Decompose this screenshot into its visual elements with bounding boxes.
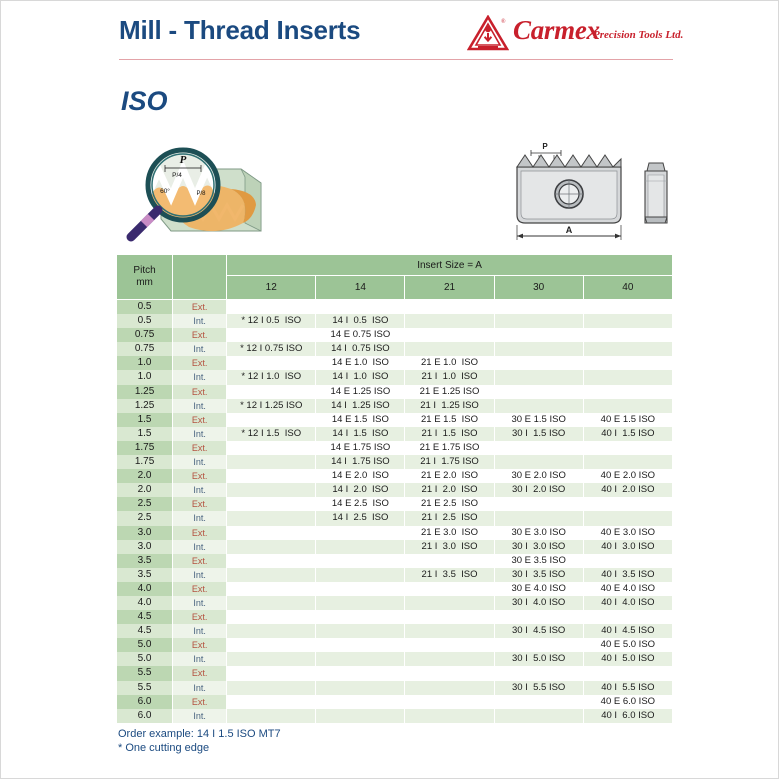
header-size-40: 40	[583, 276, 672, 300]
table-row: 4.5Int.30 I 4.5 ISO40 I 4.5 ISO	[117, 624, 673, 638]
cell-insert-40	[583, 300, 672, 315]
brand-name: Carmex	[513, 15, 600, 46]
cell-insert-21: 21 E 1.25 ISO	[405, 385, 494, 399]
cell-insert-14	[316, 709, 405, 723]
table-row: 5.0Ext.40 E 5.0 ISO	[117, 638, 673, 652]
cell-type: Ext.	[173, 385, 227, 399]
cell-insert-21: 21 I 3.0 ISO	[405, 540, 494, 554]
cell-insert-30: 30 I 2.0 ISO	[494, 483, 583, 497]
cell-insert-40: 40 E 1.5 ISO	[583, 413, 672, 427]
cell-insert-21: 21 E 2.0 ISO	[405, 469, 494, 483]
cell-pitch: 5.5	[117, 681, 173, 695]
cell-insert-30	[494, 300, 583, 315]
cell-insert-12	[227, 610, 316, 624]
cell-insert-40: 40 I 2.0 ISO	[583, 483, 672, 497]
table-row: 0.5Int.* 12 I 0.5 ISO14 I 0.5 ISO	[117, 314, 673, 328]
cell-insert-30	[494, 709, 583, 723]
cell-type: Ext.	[173, 413, 227, 427]
cell-insert-12	[227, 385, 316, 399]
cell-insert-14: 14 E 1.75 ISO	[316, 441, 405, 455]
table-row: 1.0Ext.14 E 1.0 ISO21 E 1.0 ISO	[117, 356, 673, 370]
cell-insert-12: * 12 I 1.25 ISO	[227, 399, 316, 413]
cell-insert-12: * 12 I 1.5 ISO	[227, 427, 316, 441]
table-row: 5.5Int.30 I 5.5 ISO40 I 5.5 ISO	[117, 681, 673, 695]
cell-insert-40: 40 I 1.5 ISO	[583, 427, 672, 441]
cell-insert-14: 14 I 1.75 ISO	[316, 455, 405, 469]
cell-pitch: 6.0	[117, 695, 173, 709]
cell-insert-40	[583, 314, 672, 328]
table-row: 2.0Int.14 I 2.0 ISO21 I 2.0 ISO30 I 2.0 …	[117, 483, 673, 497]
cell-type: Ext.	[173, 610, 227, 624]
cell-pitch: 3.5	[117, 568, 173, 582]
cell-type: Ext.	[173, 666, 227, 680]
cell-insert-21	[405, 596, 494, 610]
cell-insert-12	[227, 455, 316, 469]
cell-insert-21: 21 E 3.0 ISO	[405, 526, 494, 540]
cell-pitch: 0.75	[117, 342, 173, 356]
cell-pitch: 2.0	[117, 483, 173, 497]
thread-angle-label: 60°	[160, 187, 170, 195]
cell-insert-40: 40 E 3.0 ISO	[583, 526, 672, 540]
cell-insert-30	[494, 342, 583, 356]
cell-type: Int.	[173, 568, 227, 582]
cell-pitch: 3.0	[117, 540, 173, 554]
cell-type: Int.	[173, 342, 227, 356]
cell-insert-21: 21 I 1.5 ISO	[405, 427, 494, 441]
cell-insert-30: 30 I 3.5 ISO	[494, 568, 583, 582]
cell-type: Ext.	[173, 356, 227, 370]
cell-pitch: 5.5	[117, 666, 173, 680]
company-logo: ® Carmex Precision Tools Ltd.	[467, 13, 673, 53]
cell-insert-30	[494, 356, 583, 370]
footer-notes: Order example: 14 I 1.5 ISO MT7 * One cu…	[118, 727, 281, 755]
cell-insert-12	[227, 554, 316, 568]
cell-insert-21	[405, 328, 494, 342]
header-type	[173, 255, 227, 300]
cell-insert-14	[316, 666, 405, 680]
cell-insert-40: 40 I 5.5 ISO	[583, 681, 672, 695]
cell-insert-12	[227, 300, 316, 315]
table-row: 2.5Ext.14 E 2.5 ISO21 E 2.5 ISO	[117, 497, 673, 511]
cell-pitch: 5.0	[117, 652, 173, 666]
cell-insert-40	[583, 328, 672, 342]
cell-insert-12	[227, 356, 316, 370]
header-pitch: Pitch mm	[117, 255, 173, 300]
cell-insert-40: 40 E 2.0 ISO	[583, 469, 672, 483]
cell-insert-12	[227, 511, 316, 525]
cell-pitch: 6.0	[117, 709, 173, 723]
table-row: 6.0Int.40 I 6.0 ISO	[117, 709, 673, 723]
cell-insert-12	[227, 568, 316, 582]
cell-insert-21	[405, 652, 494, 666]
header-pitch-line1: Pitch	[133, 265, 155, 276]
table-row: 6.0Ext.40 E 6.0 ISO	[117, 695, 673, 709]
cell-insert-21: 21 E 1.75 ISO	[405, 441, 494, 455]
cell-pitch: 4.5	[117, 610, 173, 624]
cell-type: Int.	[173, 596, 227, 610]
cell-insert-21: 21 E 1.5 ISO	[405, 413, 494, 427]
header-pitch-line2: mm	[136, 277, 153, 288]
insert-dimension-diagram: P A	[499, 137, 679, 249]
cell-insert-30	[494, 695, 583, 709]
cell-insert-21: 21 E 2.5 ISO	[405, 497, 494, 511]
cell-insert-40	[583, 610, 672, 624]
cell-insert-30: 30 E 1.5 ISO	[494, 413, 583, 427]
cell-insert-12	[227, 540, 316, 554]
cell-insert-30: 30 E 3.0 ISO	[494, 526, 583, 540]
cell-pitch: 1.0	[117, 370, 173, 384]
cell-insert-40	[583, 455, 672, 469]
order-example-note: Order example: 14 I 1.5 ISO MT7	[118, 727, 281, 741]
cell-insert-30: 30 I 1.5 ISO	[494, 427, 583, 441]
cell-pitch: 4.0	[117, 596, 173, 610]
cell-insert-14: 14 E 1.5 ISO	[316, 413, 405, 427]
cell-pitch: 3.0	[117, 526, 173, 540]
cell-insert-21	[405, 342, 494, 356]
table-row: 3.5Ext.30 E 3.5 ISO	[117, 554, 673, 568]
header-size-14: 14	[316, 276, 405, 300]
cell-insert-12	[227, 638, 316, 652]
title-divider	[119, 59, 673, 60]
cell-insert-40	[583, 511, 672, 525]
cell-insert-40	[583, 441, 672, 455]
cell-pitch: 1.75	[117, 441, 173, 455]
table-row: 1.5Ext.14 E 1.5 ISO21 E 1.5 ISO30 E 1.5 …	[117, 413, 673, 427]
cell-insert-30	[494, 328, 583, 342]
table-row: 3.0Ext.21 E 3.0 ISO30 E 3.0 ISO40 E 3.0 …	[117, 526, 673, 540]
cell-insert-14	[316, 624, 405, 638]
thread-pitch-label: P	[180, 154, 187, 166]
cell-insert-21: 21 I 2.5 ISO	[405, 511, 494, 525]
brand-tagline: Precision Tools Ltd.	[593, 29, 683, 41]
cell-insert-30: 30 I 3.0 ISO	[494, 540, 583, 554]
cell-insert-14: 14 I 0.75 ISO	[316, 342, 405, 356]
cell-type: Int.	[173, 511, 227, 525]
table-row: 0.5Ext.	[117, 300, 673, 315]
cell-insert-40: 40 I 3.5 ISO	[583, 568, 672, 582]
cell-type: Int.	[173, 399, 227, 413]
cell-insert-21: 21 I 1.0 ISO	[405, 370, 494, 384]
cell-insert-12	[227, 497, 316, 511]
header-size-12: 12	[227, 276, 316, 300]
cell-insert-30	[494, 399, 583, 413]
cell-insert-21	[405, 314, 494, 328]
cell-type: Int.	[173, 483, 227, 497]
cell-insert-30	[494, 385, 583, 399]
cell-type: Int.	[173, 624, 227, 638]
cell-insert-14: 14 I 2.5 ISO	[316, 511, 405, 525]
cell-insert-14	[316, 596, 405, 610]
cell-insert-30: 30 E 4.0 ISO	[494, 582, 583, 596]
cell-insert-21: 21 I 1.75 ISO	[405, 455, 494, 469]
cell-insert-30: 30 E 3.5 ISO	[494, 554, 583, 568]
table-row: 3.5Int.21 I 3.5 ISO30 I 3.5 ISO40 I 3.5 …	[117, 568, 673, 582]
cell-insert-21	[405, 681, 494, 695]
cell-insert-14	[316, 568, 405, 582]
table-row: 5.5Ext.	[117, 666, 673, 680]
cell-type: Int.	[173, 540, 227, 554]
cell-insert-14: 14 E 2.0 ISO	[316, 469, 405, 483]
cell-insert-14	[316, 610, 405, 624]
cell-insert-14: 14 E 2.5 ISO	[316, 497, 405, 511]
thread-crest-label: P/4	[172, 172, 182, 179]
cutting-edge-footnote: * One cutting edge	[118, 741, 281, 755]
cell-type: Ext.	[173, 300, 227, 315]
table-row: 1.5Int.* 12 I 1.5 ISO14 I 1.5 ISO21 I 1.…	[117, 427, 673, 441]
cell-insert-14	[316, 526, 405, 540]
cell-pitch: 2.5	[117, 511, 173, 525]
cell-insert-21: 21 I 1.25 ISO	[405, 399, 494, 413]
insert-spec-table: Pitch mm Insert Size = A 12 14 21 30 40 …	[116, 254, 673, 723]
cell-insert-12	[227, 709, 316, 723]
cell-insert-40	[583, 356, 672, 370]
cell-insert-40: 40 I 3.0 ISO	[583, 540, 672, 554]
cell-insert-14	[316, 638, 405, 652]
cell-type: Int.	[173, 427, 227, 441]
thread-root-label: P/8	[196, 191, 206, 197]
cell-insert-14	[316, 554, 405, 568]
cell-insert-30	[494, 666, 583, 680]
cell-insert-12	[227, 624, 316, 638]
cell-insert-14: 14 E 0.75 ISO	[316, 328, 405, 342]
cell-insert-40: 40 E 5.0 ISO	[583, 638, 672, 652]
cell-insert-30	[494, 511, 583, 525]
cell-insert-40	[583, 399, 672, 413]
cell-pitch: 1.5	[117, 413, 173, 427]
cell-insert-12	[227, 526, 316, 540]
cell-insert-30: 30 E 2.0 ISO	[494, 469, 583, 483]
table-row: 1.75Ext.14 E 1.75 ISO21 E 1.75 ISO	[117, 441, 673, 455]
cell-type: Ext.	[173, 469, 227, 483]
cell-pitch: 1.25	[117, 385, 173, 399]
cell-insert-30: 30 I 4.5 ISO	[494, 624, 583, 638]
cell-insert-12	[227, 483, 316, 497]
cell-insert-30: 30 I 4.0 ISO	[494, 596, 583, 610]
cell-insert-40	[583, 666, 672, 680]
cell-type: Int.	[173, 709, 227, 723]
cell-insert-12	[227, 469, 316, 483]
cell-insert-30: 30 I 5.5 ISO	[494, 681, 583, 695]
cell-type: Ext.	[173, 582, 227, 596]
cell-pitch: 2.0	[117, 469, 173, 483]
cell-insert-12	[227, 596, 316, 610]
cell-type: Ext.	[173, 554, 227, 568]
cell-insert-21	[405, 709, 494, 723]
cell-insert-40: 40 E 4.0 ISO	[583, 582, 672, 596]
cell-insert-14: 14 E 1.0 ISO	[316, 356, 405, 370]
document-page: Mill - Thread Inserts ® Carmex Precision…	[0, 0, 779, 779]
cell-insert-21	[405, 610, 494, 624]
cell-insert-14	[316, 540, 405, 554]
cell-insert-12	[227, 695, 316, 709]
table-row: 3.0Int.21 I 3.0 ISO30 I 3.0 ISO40 I 3.0 …	[117, 540, 673, 554]
cell-pitch: 2.5	[117, 497, 173, 511]
table-row: 4.0Ext.30 E 4.0 ISO40 E 4.0 ISO	[117, 582, 673, 596]
cell-insert-21	[405, 695, 494, 709]
cell-insert-30	[494, 638, 583, 652]
table-row: 4.5Ext.	[117, 610, 673, 624]
cell-insert-12: * 12 I 0.75 ISO	[227, 342, 316, 356]
table-row: 1.25Int.* 12 I 1.25 ISO14 I 1.25 ISO21 I…	[117, 399, 673, 413]
cell-insert-14: 14 E 1.25 ISO	[316, 385, 405, 399]
cell-insert-14: 14 I 1.5 ISO	[316, 427, 405, 441]
table-row: 1.25Ext.14 E 1.25 ISO21 E 1.25 ISO	[117, 385, 673, 399]
cell-type: Ext.	[173, 526, 227, 540]
cell-insert-14	[316, 681, 405, 695]
table-body: 0.5Ext.0.5Int.* 12 I 0.5 ISO14 I 0.5 ISO…	[117, 300, 673, 723]
cell-insert-40: 40 I 5.0 ISO	[583, 652, 672, 666]
cell-insert-30	[494, 314, 583, 328]
cell-insert-40: 40 I 4.5 ISO	[583, 624, 672, 638]
cell-insert-14	[316, 300, 405, 315]
page-title: Mill - Thread Inserts	[119, 15, 360, 46]
table-header: Pitch mm Insert Size = A 12 14 21 30 40	[117, 255, 673, 300]
cell-insert-14	[316, 582, 405, 596]
cell-insert-40: 40 E 6.0 ISO	[583, 695, 672, 709]
cell-insert-12: * 12 I 0.5 ISO	[227, 314, 316, 328]
cell-insert-21	[405, 300, 494, 315]
cell-insert-21	[405, 554, 494, 568]
cell-type: Int.	[173, 314, 227, 328]
cell-insert-21	[405, 666, 494, 680]
cell-pitch: 1.0	[117, 356, 173, 370]
cell-pitch: 1.75	[117, 455, 173, 469]
insert-width-label: A	[566, 225, 573, 235]
cell-pitch: 0.5	[117, 314, 173, 328]
cell-insert-40	[583, 385, 672, 399]
cell-insert-12	[227, 681, 316, 695]
cell-insert-14	[316, 652, 405, 666]
table-row: 0.75Ext.14 E 0.75 ISO	[117, 328, 673, 342]
cell-insert-14: 14 I 1.25 ISO	[316, 399, 405, 413]
cell-insert-30	[494, 455, 583, 469]
cell-type: Int.	[173, 681, 227, 695]
cell-insert-12	[227, 441, 316, 455]
cell-insert-12	[227, 652, 316, 666]
cell-insert-40	[583, 497, 672, 511]
table-row: 5.0Int.30 I 5.0 ISO40 I 5.0 ISO	[117, 652, 673, 666]
cell-type: Ext.	[173, 441, 227, 455]
cell-insert-21: 21 I 2.0 ISO	[405, 483, 494, 497]
cell-insert-12	[227, 666, 316, 680]
cell-pitch: 0.5	[117, 300, 173, 315]
cell-insert-40	[583, 370, 672, 384]
table-row: 2.5Int.14 I 2.5 ISO21 I 2.5 ISO	[117, 511, 673, 525]
cell-pitch: 1.5	[117, 427, 173, 441]
cell-pitch: 1.25	[117, 399, 173, 413]
cell-pitch: 4.0	[117, 582, 173, 596]
table-row: 4.0Int.30 I 4.0 ISO40 I 4.0 ISO	[117, 596, 673, 610]
cell-type: Ext.	[173, 497, 227, 511]
cell-type: Ext.	[173, 695, 227, 709]
cell-insert-30: 30 I 5.0 ISO	[494, 652, 583, 666]
cell-insert-40: 40 I 4.0 ISO	[583, 596, 672, 610]
table-row: 1.0Int.* 12 I 1.0 ISO14 I 1.0 ISO21 I 1.…	[117, 370, 673, 384]
cell-insert-40: 40 I 6.0 ISO	[583, 709, 672, 723]
cell-insert-21	[405, 582, 494, 596]
table-row: 2.0Ext.14 E 2.0 ISO21 E 2.0 ISO30 E 2.0 …	[117, 469, 673, 483]
cell-insert-21	[405, 638, 494, 652]
cell-type: Ext.	[173, 328, 227, 342]
cell-insert-12	[227, 328, 316, 342]
table-row: 0.75Int.* 12 I 0.75 ISO14 I 0.75 ISO	[117, 342, 673, 356]
cell-insert-30	[494, 610, 583, 624]
svg-text:®: ®	[501, 18, 506, 25]
cell-insert-40	[583, 554, 672, 568]
cell-insert-14: 14 I 0.5 ISO	[316, 314, 405, 328]
section-heading-iso: ISO	[121, 86, 168, 117]
header-size-30: 30	[494, 276, 583, 300]
table-row: 1.75Int.14 I 1.75 ISO21 I 1.75 ISO	[117, 455, 673, 469]
cell-insert-14: 14 I 1.0 ISO	[316, 370, 405, 384]
cell-pitch: 4.5	[117, 624, 173, 638]
cell-type: Ext.	[173, 638, 227, 652]
cell-insert-12: * 12 I 1.0 ISO	[227, 370, 316, 384]
thread-profile-diagram: P P/4 P/8 60°	[113, 127, 283, 247]
cell-insert-12	[227, 413, 316, 427]
cell-insert-40	[583, 342, 672, 356]
insert-pitch-label: P	[542, 142, 548, 151]
cell-type: Int.	[173, 652, 227, 666]
cell-pitch: 3.5	[117, 554, 173, 568]
carmex-triangle-icon: ®	[467, 15, 509, 51]
header-insert-size: Insert Size = A	[227, 255, 673, 276]
cell-insert-21	[405, 624, 494, 638]
cell-type: Int.	[173, 370, 227, 384]
cell-insert-21: 21 E 1.0 ISO	[405, 356, 494, 370]
cell-insert-21: 21 I 3.5 ISO	[405, 568, 494, 582]
cell-insert-12	[227, 582, 316, 596]
cell-insert-14	[316, 695, 405, 709]
cell-pitch: 0.75	[117, 328, 173, 342]
header-size-21: 21	[405, 276, 494, 300]
cell-insert-30	[494, 441, 583, 455]
cell-insert-30	[494, 497, 583, 511]
cell-insert-30	[494, 370, 583, 384]
cell-type: Int.	[173, 455, 227, 469]
cell-pitch: 5.0	[117, 638, 173, 652]
cell-insert-14: 14 I 2.0 ISO	[316, 483, 405, 497]
